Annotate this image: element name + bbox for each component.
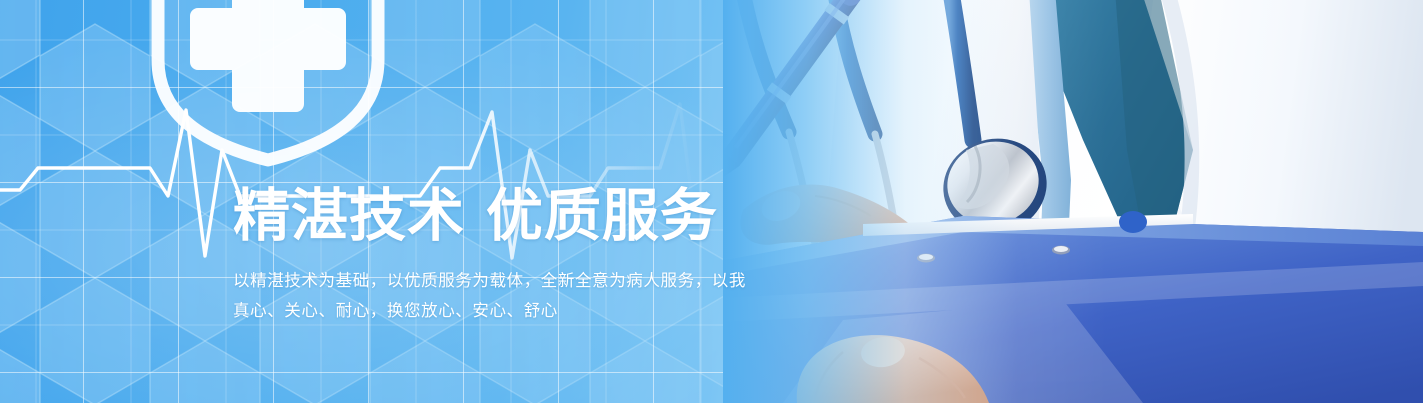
medical-cross-icon <box>190 0 346 112</box>
headline: 精湛技术 优质服务 <box>233 186 853 246</box>
banner-copy: 精湛技术 优质服务 以精湛技术为基础，以优质服务为载体，全新全意为病人服务，以我… <box>233 186 853 326</box>
medical-hero-banner: 精湛技术 优质服务 以精湛技术为基础，以优质服务为载体，全新全意为病人服务，以我… <box>0 0 1423 403</box>
subtitle-line-1: 以精湛技术为基础，以优质服务为载体，全新全意为病人服务，以我 <box>233 266 758 296</box>
subtitle: 以精湛技术为基础，以优质服务为载体，全新全意为病人服务，以我 真心、关心、耐心，… <box>233 266 758 326</box>
subtitle-line-2: 真心、关心、耐心，换您放心、安心、舒心 <box>233 296 758 326</box>
clipboard-clip <box>1119 211 1147 233</box>
